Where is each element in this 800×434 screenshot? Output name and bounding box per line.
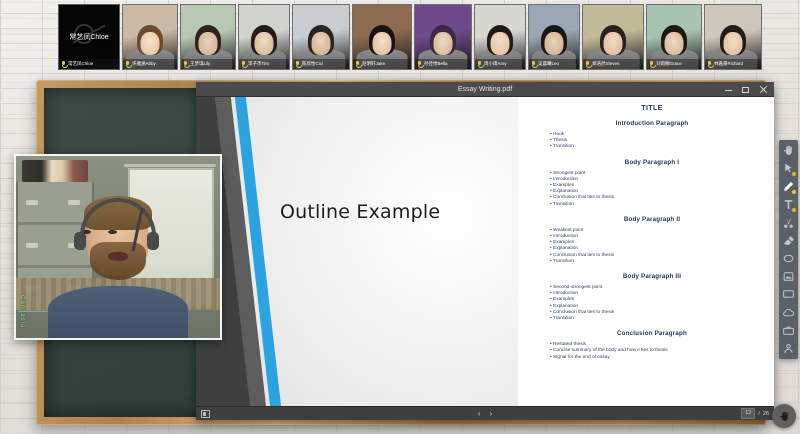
note-icon[interactable] xyxy=(782,288,795,301)
shape-icon[interactable] xyxy=(782,252,795,265)
participant-filmstrip[interactable]: 常艺凤Chloe常艺凤Chloe许雅涵Abby王梦琪Lily李子杰Tim陈欣怡C… xyxy=(58,4,798,70)
webcam-person-torso xyxy=(48,286,188,338)
participant-name-label: 陈欣怡Cici xyxy=(302,59,347,69)
presenter-webcam-overlay[interactable]: Camtasia xyxy=(14,154,222,340)
outline-bullet-list: • Second-strongest point• Introduction• … xyxy=(540,285,764,322)
maximize-icon[interactable] xyxy=(741,85,750,94)
microphone-muted-icon xyxy=(417,61,422,68)
headset-earcup xyxy=(147,232,159,250)
microphone-muted-icon xyxy=(707,61,712,68)
participant-tile[interactable]: 林嘉豪Richard xyxy=(704,4,762,70)
tool-badge xyxy=(792,190,796,194)
participant-tile[interactable]: 周小雨Amy xyxy=(474,4,526,70)
tool-badge xyxy=(792,172,796,176)
participant-name-label: 郑浩然Steven xyxy=(592,59,641,69)
participant-face xyxy=(724,32,743,55)
presentation-slide: Outline Example xyxy=(196,97,518,406)
participant-face xyxy=(665,32,684,55)
participant-name-bar: 许雅涵Abby xyxy=(123,59,177,69)
image-icon[interactable] xyxy=(782,270,795,283)
participant-name-bar: 陈欣怡Cici xyxy=(293,59,349,69)
microphone-muted-icon xyxy=(125,61,130,68)
participant-name-label: 周小雨Amy xyxy=(484,59,523,69)
cursor-select-icon[interactable] xyxy=(782,162,795,175)
cloud-icon[interactable] xyxy=(782,306,795,319)
outline-bullet-list: • Strongest point• Introduction• Example… xyxy=(540,171,764,208)
hand-pan-icon[interactable] xyxy=(782,144,795,157)
microphone-muted-icon xyxy=(531,61,536,68)
page-separator: / xyxy=(758,411,760,417)
participant-name-label: 许雅涵Abby xyxy=(132,59,175,69)
outline-section-heading: Body Paragraph II xyxy=(540,216,764,223)
next-page-button[interactable]: › xyxy=(490,409,493,418)
total-pages-label: 26 xyxy=(763,411,769,417)
participant-tile[interactable]: 李子杰Tim xyxy=(238,4,290,70)
participant-tile[interactable]: 王梦琪Lily xyxy=(180,4,236,70)
participant-tile[interactable]: 孙佳怡Bella xyxy=(414,4,472,70)
participant-face xyxy=(312,32,331,55)
pdf-footer-toolbar[interactable]: ‹ › 12 / 26 xyxy=(196,406,774,420)
outline-doc-title: TITLE xyxy=(540,105,764,112)
participant-name-label: 刘雨桐Grace xyxy=(656,59,699,69)
pdf-viewer-window[interactable]: Essay Writing.pdf Outline Example TITLE … xyxy=(196,82,774,420)
toolbox-icon[interactable] xyxy=(782,324,795,337)
eraser-icon[interactable] xyxy=(782,234,795,247)
outline-bullet: • Transition xyxy=(550,202,764,208)
text-tool-icon[interactable] xyxy=(782,198,795,211)
participant-name-label: 李子杰Tim xyxy=(248,59,287,69)
outline-bullet: • Transition xyxy=(550,316,764,322)
thumbnail-panel-icon[interactable] xyxy=(201,410,210,418)
outline-bullet: • Transition xyxy=(550,259,764,265)
webcam-watermark: Camtasia xyxy=(19,295,25,328)
outline-document-page: TITLE Introduction Paragraph• Hook• Thes… xyxy=(518,97,774,406)
microphone-muted-icon xyxy=(355,61,360,68)
annotation-toolbar[interactable] xyxy=(779,140,798,359)
participant-tile[interactable]: 吴晨曦Leo xyxy=(528,4,580,70)
participant-name-label: 林嘉豪Richard xyxy=(714,59,759,69)
participant-tile[interactable]: 赵明轩Jake xyxy=(352,4,412,70)
participant-face xyxy=(141,32,160,55)
outline-bullet: • Signal for the end of essay xyxy=(550,355,764,361)
outline-bullet-list: • Weakest point• Introduction• Examples•… xyxy=(540,228,764,265)
pdf-title-bar[interactable]: Essay Writing.pdf xyxy=(196,82,774,97)
participant-face xyxy=(604,32,623,55)
outline-bullet-list: • Restated thesis• Concise summary of th… xyxy=(540,342,764,361)
participant-name-label: 吴晨曦Leo xyxy=(538,59,577,69)
microphone-muted-icon xyxy=(649,61,654,68)
page-counter[interactable]: 12 / 26 xyxy=(741,408,769,419)
pdf-window-title: Essay Writing.pdf xyxy=(196,82,774,97)
participant-name-bar: 郑浩然Steven xyxy=(583,59,643,69)
participant-face xyxy=(491,32,510,55)
person-icon[interactable] xyxy=(782,342,795,355)
shelf-label xyxy=(26,200,38,205)
participant-tile[interactable]: 郑浩然Steven xyxy=(582,4,644,70)
outline-bullet: • Transition xyxy=(550,144,764,150)
outline-section-heading: Body Paragraph III xyxy=(540,273,764,280)
webcam-shelf-items xyxy=(22,160,88,182)
participant-name-bar: 周小雨Amy xyxy=(475,59,525,69)
tool-badge xyxy=(792,208,796,212)
microphone-muted-icon xyxy=(295,61,300,68)
participant-name-bar: 常艺凤Chloe xyxy=(59,59,119,69)
participant-face xyxy=(434,32,453,55)
outline-bullet-list: • Hook• Thesis• Transition xyxy=(540,132,764,151)
screen-share-stage: 常艺凤Chloe常艺凤Chloe许雅涵Abby王梦琪Lily李子杰Tim陈欣怡C… xyxy=(0,0,800,434)
microphone-muted-icon xyxy=(241,61,246,68)
close-icon[interactable] xyxy=(758,85,767,94)
microphone-muted-icon xyxy=(477,61,482,68)
current-page-field[interactable]: 12 xyxy=(741,408,755,419)
minimize-icon[interactable] xyxy=(724,85,733,94)
microphone-muted-icon xyxy=(61,61,66,68)
pen-icon[interactable] xyxy=(782,180,795,193)
participant-name-label: 赵明轩Jake xyxy=(362,59,409,69)
webcam-person-mouth xyxy=(108,252,128,261)
prev-page-button[interactable]: ‹ xyxy=(478,409,481,418)
participant-face xyxy=(373,32,392,55)
participant-tile[interactable]: 刘雨桐Grace xyxy=(646,4,702,70)
webcam-curtain-rod xyxy=(124,164,216,167)
slide-title: Outline Example xyxy=(280,201,440,223)
participant-name-label: 孙佳怡Bella xyxy=(424,59,469,69)
participant-name-overlay: 常艺凤Chloe xyxy=(69,32,108,42)
participant-name-bar: 刘雨桐Grace xyxy=(647,59,701,69)
participant-name-bar: 李子杰Tim xyxy=(239,59,289,69)
participant-tile[interactable]: 常艺凤Chloe常艺凤Chloe xyxy=(58,4,120,70)
participant-face xyxy=(545,32,564,55)
headset-earcup xyxy=(74,232,86,250)
page-navigation[interactable]: ‹ › xyxy=(478,409,492,418)
participant-name-bar: 吴晨曦Leo xyxy=(529,59,579,69)
scissors-icon[interactable] xyxy=(782,216,795,229)
outline-sections: Introduction Paragraph• Hook• Thesis• Tr… xyxy=(540,120,764,361)
participant-face xyxy=(255,32,274,55)
microphone-muted-icon xyxy=(183,61,188,68)
outline-section-heading: Introduction Paragraph xyxy=(540,120,764,127)
hand-grab-icon[interactable] xyxy=(772,404,796,428)
participant-name-bar: 王梦琪Lily xyxy=(181,59,235,69)
microphone-muted-icon xyxy=(585,61,590,68)
participant-name-bar: 孙佳怡Bella xyxy=(415,59,471,69)
outline-section-heading: Body Paragraph I xyxy=(540,159,764,166)
participant-name-label: 王梦琪Lily xyxy=(190,59,233,69)
participant-tile[interactable]: 许雅涵Abby xyxy=(122,4,178,70)
shelf-label xyxy=(68,200,80,205)
participant-tile[interactable]: 陈欣怡Cici xyxy=(292,4,350,70)
outline-section-heading: Conclusion Paragraph xyxy=(540,330,764,337)
participant-name-bar: 林嘉豪Richard xyxy=(705,59,761,69)
shelf-label xyxy=(26,243,38,248)
participant-face xyxy=(199,32,218,55)
pdf-content-area: Outline Example TITLE Introduction Parag… xyxy=(196,97,774,406)
participant-name-bar: 赵明轩Jake xyxy=(353,59,411,69)
participant-name-label: 常艺凤Chloe xyxy=(68,59,117,69)
